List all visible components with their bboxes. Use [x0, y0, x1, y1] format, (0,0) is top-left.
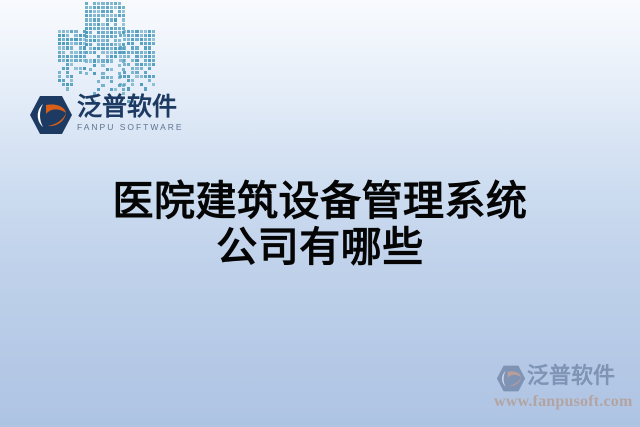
brand-logo: 泛普软件 FANPU SOFTWARE [29, 93, 194, 137]
page-title-line-1: 医院建筑设备管理系统 [0, 178, 640, 224]
fanpu-hexagon-logo-mark-icon [29, 95, 73, 135]
page-title-line-2: 公司有哪些 [0, 224, 640, 270]
brand-wordmark: 泛普软件 FANPU SOFTWARE [77, 93, 195, 137]
page-title: 医院建筑设备管理系统 公司有哪些 [0, 178, 640, 270]
poster-canvas: 泛普软件 FANPU SOFTWARE 医院建筑设备管理系统 公司有哪些 泛普软… [0, 0, 640, 427]
watermark-url: www.fanpusoft.com [494, 392, 633, 411]
pixel-cityscape-graphic [55, 0, 155, 85]
fanpu-watermark-logo-mark-icon [496, 365, 526, 392]
brand-name-chinese: 泛普软件 [77, 93, 195, 121]
site-watermark: 泛普软件 www.fanpusoft.com [492, 363, 634, 417]
brand-name-english: FANPU SOFTWARE [77, 121, 195, 133]
watermark-brand-name: 泛普软件 [527, 363, 615, 391]
